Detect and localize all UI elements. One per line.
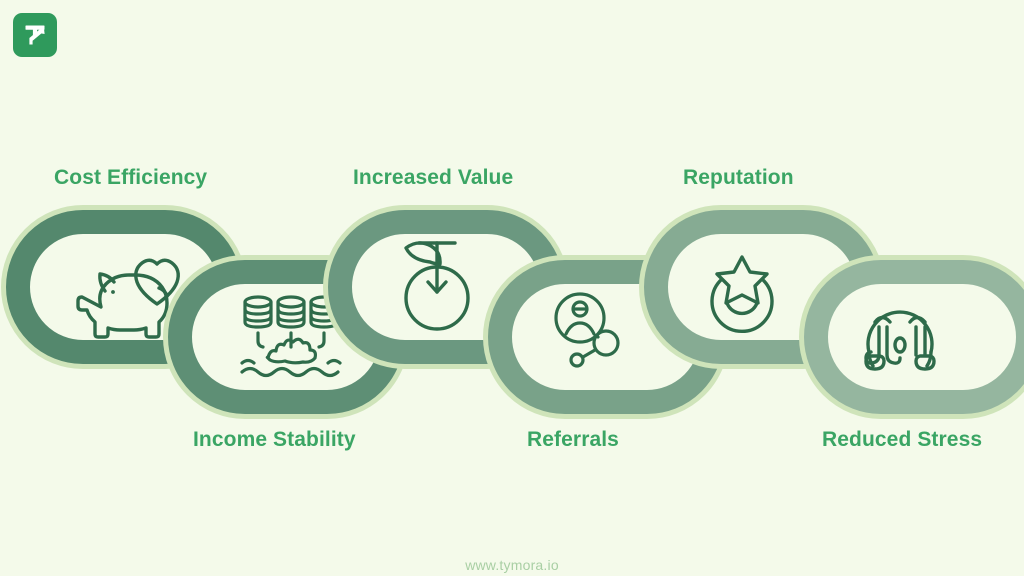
chain-link-3-label: Increased Value [353,167,513,188]
chain-link-2-halo [180,272,392,402]
chain-link-1-ring [18,222,230,352]
star-crescent-rating-icon [712,257,772,331]
user-network-nodes-icon [556,294,618,366]
chain-link-1-halo [18,222,230,352]
tymora-logo[interactable] [13,13,57,57]
relieved-crying-face-icon [866,312,934,369]
chain-link-5[interactable] [656,222,868,352]
chain-link-5-halo [656,222,868,352]
piggy-bank-heart-icon [78,260,178,337]
chain-diagram [0,0,1024,576]
chain-link-2-label: Income Stability [193,429,356,450]
chain-link-1[interactable] [18,222,230,352]
chain-link-1-label: Cost Efficiency [54,167,207,188]
chain-link-4[interactable] [500,272,712,402]
coin-stacks-waves-icon [242,297,340,376]
chain-link-5-ring [656,222,868,352]
chain-link-2-ring [180,272,392,402]
chain-link-6-halo [816,272,1024,402]
tymora-t-arrow-logo-icon [21,21,49,49]
chain-link-2[interactable] [180,272,392,402]
chain-link-4-label: Referrals [527,429,619,450]
chain-link-4-ring [500,272,712,402]
fruit-leaf-growth-icon [406,243,468,329]
chain-link-6-label: Reduced Stress [822,429,982,450]
chain-link-5-label: Reputation [683,167,794,188]
chain-link-4-halo [500,272,712,402]
chain-link-3[interactable] [340,222,552,352]
chain-link-3-ring [340,222,552,352]
chain-link-6[interactable] [816,272,1024,402]
chain-link-3-halo [340,222,552,352]
chain-link-6-ring [816,272,1024,402]
footer-website[interactable]: www.tymora.io [0,557,1024,573]
